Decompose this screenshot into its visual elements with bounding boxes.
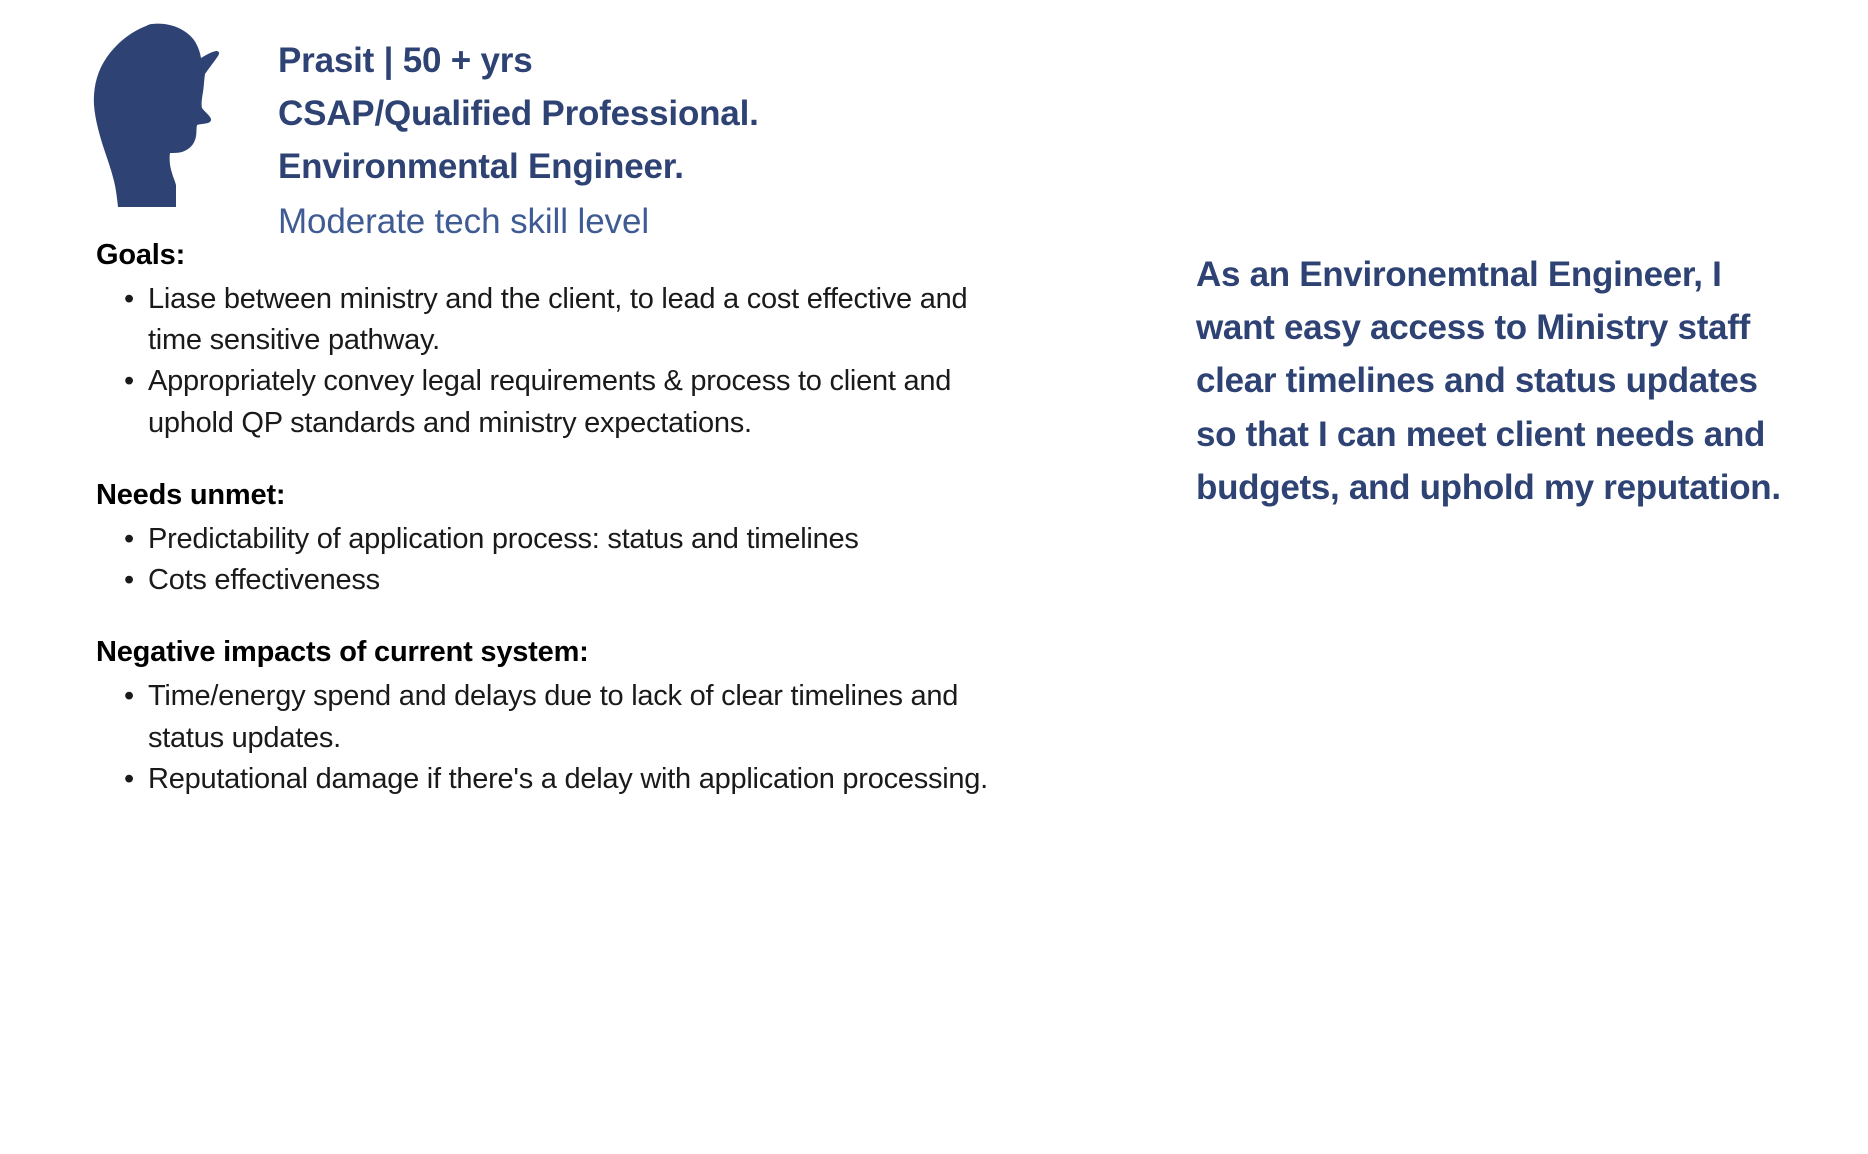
persona-left-column: Prasit | 50 + yrs CSAP/Qualified Profess… xyxy=(0,0,1060,1154)
goals-list: • Liase between ministry and the client,… xyxy=(96,279,996,444)
bullet-icon: • xyxy=(124,519,134,560)
list-item-text: Appropriately convey legal requirements … xyxy=(148,365,951,438)
section-heading: Negative impacts of current system: xyxy=(96,633,996,672)
bullet-icon: • xyxy=(124,676,134,717)
persona-header: Prasit | 50 + yrs CSAP/Qualified Profess… xyxy=(90,22,759,248)
persona-card: Prasit | 50 + yrs CSAP/Qualified Profess… xyxy=(0,0,1868,1154)
list-item-text: Cots effectiveness xyxy=(148,564,380,596)
list-item: • Cots effectiveness xyxy=(96,560,996,601)
section-negative-impacts: Negative impacts of current system: • Ti… xyxy=(96,633,996,800)
needs-unmet-list: • Predictability of application process:… xyxy=(96,519,996,601)
bullet-icon: • xyxy=(124,279,134,320)
list-item: • Predictability of application process:… xyxy=(96,519,996,560)
list-item-text: Reputational damage if there's a delay w… xyxy=(148,763,988,795)
bullet-icon: • xyxy=(124,560,134,601)
list-item-text: Predictability of application process: s… xyxy=(148,523,859,555)
section-heading: Goals: xyxy=(96,236,996,275)
persona-name-line: Prasit | 50 + yrs xyxy=(278,34,759,87)
list-item-text: Time/energy spend and delays due to lack… xyxy=(148,680,958,753)
persona-quote-panel: As an Environemtnal Engineer, I want eas… xyxy=(1196,248,1796,514)
persona-role-line-2: Environmental Engineer. xyxy=(278,140,759,193)
list-item: • Appropriately convey legal requirement… xyxy=(96,361,996,443)
list-item: • Reputational damage if there's a delay… xyxy=(96,759,996,800)
persona-sections: Goals: • Liase between ministry and the … xyxy=(96,236,996,800)
persona-quote-text: As an Environemtnal Engineer, I want eas… xyxy=(1196,248,1796,514)
section-needs-unmet: Needs unmet: • Predictability of applica… xyxy=(96,476,996,601)
persona-role-line-1: CSAP/Qualified Professional. xyxy=(278,87,759,140)
list-item: • Liase between ministry and the client,… xyxy=(96,279,996,361)
negative-impacts-list: • Time/energy spend and delays due to la… xyxy=(96,676,996,800)
list-item: • Time/energy spend and delays due to la… xyxy=(96,676,996,758)
persona-header-text: Prasit | 50 + yrs CSAP/Qualified Profess… xyxy=(278,22,759,248)
section-goals: Goals: • Liase between ministry and the … xyxy=(96,236,996,444)
section-heading: Needs unmet: xyxy=(96,476,996,515)
list-item-text: Liase between ministry and the client, t… xyxy=(148,283,967,356)
male-head-silhouette-icon xyxy=(90,22,240,207)
bullet-icon: • xyxy=(124,759,134,800)
bullet-icon: • xyxy=(124,361,134,402)
